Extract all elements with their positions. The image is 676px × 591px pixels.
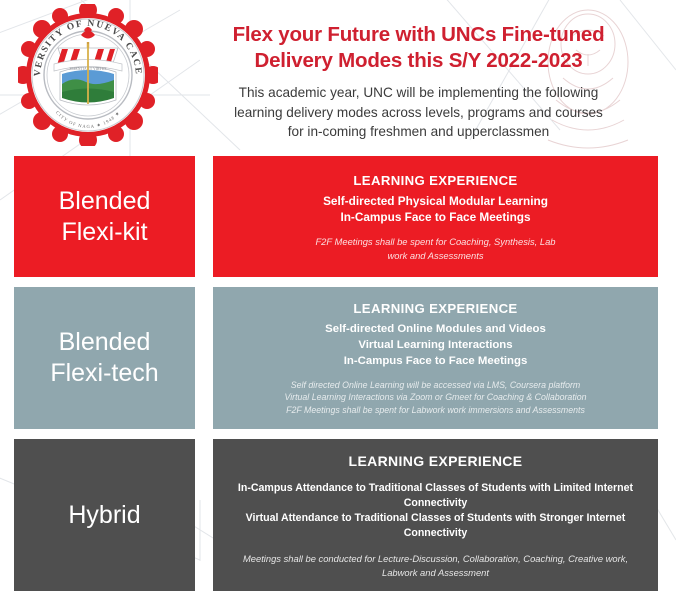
mode-label-line-2: Flexi-kit (59, 217, 151, 248)
page-title: Flex your Future with UNCs Fine-tuned De… (179, 22, 658, 74)
subhead-line-1: This academic year, UNC will be implemen… (239, 85, 599, 100)
experience-item: In-Campus Face to Face Meetings (325, 353, 546, 369)
subhead-line-2: learning delivery modes across levels, p… (234, 105, 603, 120)
mode-label-line-2: Flexi-tech (50, 358, 158, 389)
experience-title: LEARNING EXPERIENCE (353, 301, 517, 316)
mode-label-hybrid: Hybrid (14, 439, 195, 591)
experience-item: Self-directed Online Modules and Videos (325, 321, 546, 337)
mode-body-blended-flexi-tech: LEARNING EXPERIENCE Self-directed Online… (213, 287, 658, 429)
mode-label-line-1: Blended (59, 186, 151, 217)
mode-label-blended-flexi-kit: Blended Flexi-kit (14, 156, 195, 277)
experience-title: LEARNING EXPERIENCE (349, 453, 523, 469)
experience-item: Virtual Learning Interactions (325, 337, 546, 353)
experience-item: Self-directed Physical Modular Learning (323, 193, 548, 210)
experience-item: In-Campus Face to Face Meetings (323, 209, 548, 226)
experience-title: LEARNING EXPERIENCE (353, 173, 517, 188)
experience-note: work and Assessments (315, 249, 555, 263)
mode-body-hybrid: LEARNING EXPERIENCE In-Campus Attendance… (213, 439, 658, 591)
subhead-line-3: for in-coming freshmen and upperclassmen (288, 124, 549, 139)
logo-wrap: UNIVERSITY OF NUEVA CACERES CITY OF NAGA… (0, 0, 175, 150)
experience-notes: Self directed Online Learning will be ac… (284, 379, 586, 417)
experience-note: Meetings shall be conducted for Lecture-… (243, 552, 628, 566)
experience-items: In-Campus Attendance to Traditional Clas… (229, 481, 642, 541)
experience-item: In-Campus Attendance to Traditional Clas… (229, 481, 642, 511)
experience-note: Labwork and Assessment (243, 566, 628, 580)
university-seal-logo: UNIVERSITY OF NUEVA CACERES CITY OF NAGA… (18, 4, 158, 146)
experience-notes: F2F Meetings shall be spent for Coaching… (315, 235, 555, 262)
delivery-modes-matrix: Blended Flexi-kit LEARNING EXPERIENCE Se… (14, 156, 658, 591)
experience-note: F2F Meetings shall be spent for Coaching… (315, 235, 555, 249)
experience-notes: Meetings shall be conducted for Lecture-… (243, 552, 628, 579)
mode-row-blended-flexi-kit: Blended Flexi-kit LEARNING EXPERIENCE Se… (14, 156, 658, 277)
mode-row-blended-flexi-tech: Blended Flexi-tech LEARNING EXPERIENCE S… (14, 287, 658, 429)
mode-label-line-1: Blended (50, 327, 158, 358)
page-subtitle: This academic year, UNC will be implemen… (179, 83, 658, 141)
experience-note: Virtual Learning Interactions via Zoom o… (284, 391, 586, 404)
experience-note: F2F Meetings shall be spent for Labwork … (284, 404, 586, 417)
header: UNIVERSITY OF NUEVA CACERES CITY OF NAGA… (0, 0, 676, 150)
mode-row-hybrid: Hybrid LEARNING EXPERIENCE In-Campus Att… (14, 439, 658, 591)
headline-line-2: Delivery Modes this S/Y 2022-2023 (254, 49, 582, 72)
mode-label-blended-flexi-tech: Blended Flexi-tech (14, 287, 195, 429)
headline-line-1: Flex your Future with UNCs Fine-tuned (233, 23, 605, 46)
mode-label-line-1: Hybrid (68, 500, 140, 531)
experience-items: Self-directed Physical Modular Learning … (323, 193, 548, 227)
experience-item: Virtual Attendance to Traditional Classe… (229, 511, 642, 541)
experience-note: Self directed Online Learning will be ac… (284, 379, 586, 392)
header-text: Flex your Future with UNCs Fine-tuned De… (175, 0, 676, 141)
experience-items: Self-directed Online Modules and Videos … (325, 321, 546, 370)
mode-body-blended-flexi-kit: LEARNING EXPERIENCE Self-directed Physic… (213, 156, 658, 277)
